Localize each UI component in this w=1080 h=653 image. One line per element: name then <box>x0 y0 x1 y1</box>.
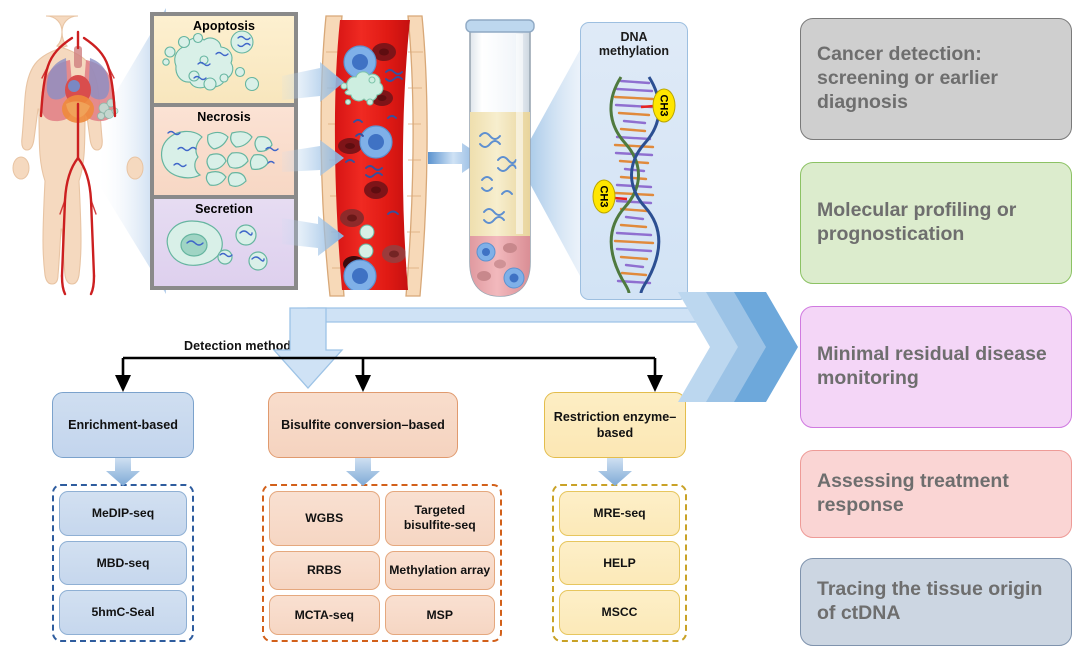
release-panel-apoptosis: Apoptosis <box>154 16 294 107</box>
method-box[interactable]: MBD-seq <box>59 541 187 586</box>
chevron-arrows-to-applications <box>676 288 802 406</box>
arrow-bisulfite-to-methods <box>346 458 380 486</box>
method-box[interactable]: MSCC <box>559 590 680 635</box>
release-panel-title: Apoptosis <box>154 16 294 33</box>
arrow-restriction-to-methods <box>598 458 632 486</box>
release-panel-necrosis: Necrosis <box>154 107 294 198</box>
blood-collection-tube <box>462 14 538 302</box>
method-box[interactable]: MRE-seq <box>559 491 680 536</box>
method-box[interactable]: WGBS <box>269 491 380 546</box>
method-box[interactable]: HELP <box>559 541 680 586</box>
release-panel-title: Secretion <box>154 199 294 216</box>
method-list-enrichment: MeDIP-seq MBD-seq 5hmC-Seal <box>59 491 187 635</box>
method-box[interactable]: RRBS <box>269 551 380 591</box>
arrow-enrichment-to-methods <box>106 458 140 486</box>
method-list-bisulfite: WGBS Targeted bisulfite-seq RRBS Methyla… <box>269 491 495 635</box>
dna-title-line1: DNA <box>620 30 647 44</box>
method-box[interactable]: MSP <box>385 595 496 635</box>
methyl-group-badge-upper: CH3 <box>653 89 676 123</box>
dna-methylation-panel: DNA methylation <box>580 22 688 300</box>
method-box[interactable]: MCTA-seq <box>269 595 380 635</box>
method-group-bisulfite: WGBS Targeted bisulfite-seq RRBS Methyla… <box>262 484 502 642</box>
release-panel-title: Necrosis <box>154 107 294 124</box>
method-box[interactable]: Methylation array <box>385 551 496 591</box>
detection-methods-tree-connector <box>40 352 710 394</box>
dna-panel-title: DNA methylation <box>581 23 687 59</box>
method-box[interactable]: MeDIP-seq <box>59 491 187 536</box>
outcome-cancer-detection[interactable]: Cancer detection: screening or earlier d… <box>800 18 1072 140</box>
ctdna-release-mechanism-panels: Apoptosis <box>150 12 298 290</box>
arrow-secretion-to-vessel <box>282 210 344 262</box>
outcome-molecular-profiling[interactable]: Molecular profiling or prognostication <box>800 162 1072 284</box>
method-box[interactable]: 5hmC-Seal <box>59 590 187 635</box>
method-group-enrichment: MeDIP-seq MBD-seq 5hmC-Seal <box>52 484 194 642</box>
arrow-apoptosis-to-vessel <box>282 62 344 114</box>
outcome-mrd-monitoring[interactable]: Minimal residual disease monitoring <box>800 306 1072 428</box>
human-body-figure <box>8 8 148 298</box>
dna-title-line2: methylation <box>599 44 669 58</box>
outcome-treatment-response[interactable]: Assessing treatment response <box>800 450 1072 538</box>
method-group-restriction: MRE-seq HELP MSCC <box>552 484 687 642</box>
release-panel-secretion: Secretion <box>154 199 294 286</box>
method-box[interactable]: Targeted bisulfite-seq <box>385 491 496 546</box>
arrow-necrosis-to-vessel <box>282 140 344 184</box>
outcome-tissue-origin[interactable]: Tracing the tissue origin of ctDNA <box>800 558 1072 646</box>
category-box-enrichment[interactable]: Enrichment-based <box>52 392 194 458</box>
method-list-restriction: MRE-seq HELP MSCC <box>559 491 680 635</box>
methyl-group-badge-lower: CH3 <box>593 180 616 214</box>
diagram-canvas: Apoptosis <box>0 0 1080 653</box>
